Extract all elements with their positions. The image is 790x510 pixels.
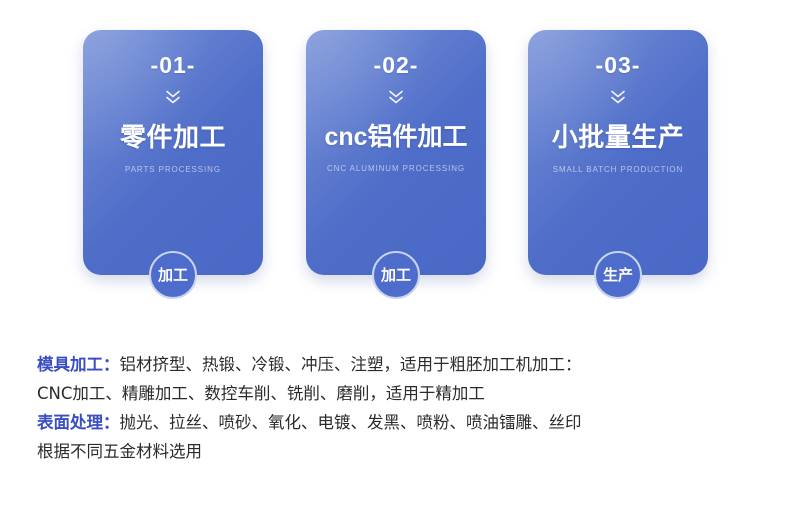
card-number: -01- (151, 54, 196, 77)
description-line: 根据不同五金材料选用 (37, 437, 757, 466)
description-line: CNC加工、精雕加工、数控车削、铣削、磨削，适用于精加工 (37, 379, 757, 408)
card-title: 零件加工 (120, 123, 226, 153)
card-number: -03- (596, 54, 641, 77)
double-chevron-down-icon (388, 89, 404, 107)
card-badge-label: 加工 (158, 268, 188, 283)
description-value: 铝材挤型、热锻、冷锻、冲压、注塑，适用于粗胚加工机加工： (120, 355, 582, 374)
card-content: -03- 小批量生产 SMALL BATCH PRODUCTION (528, 30, 708, 275)
card-subtitle: SMALL BATCH PRODUCTION (553, 165, 683, 174)
service-card-3[interactable]: -03- 小批量生产 SMALL BATCH PRODUCTION 生产 (528, 30, 708, 275)
card-number: -02- (374, 54, 419, 77)
service-card-2[interactable]: -02- cnc铝件加工 CNC ALUMINUM PROCESSING 加工 (306, 30, 486, 275)
card-content: -01- 零件加工 PARTS PROCESSING (83, 30, 263, 275)
card-subtitle: CNC ALUMINUM PROCESSING (327, 164, 465, 173)
card-title: 小批量生产 (552, 123, 685, 153)
description-key: 模具加工： (37, 355, 120, 374)
card-title: cnc铝件加工 (324, 123, 467, 152)
description-value: CNC加工、精雕加工、数控车削、铣削、磨削，适用于精加工 (37, 384, 485, 403)
card-badge[interactable]: 加工 (149, 251, 197, 299)
service-card-1[interactable]: -01- 零件加工 PARTS PROCESSING 加工 (83, 30, 263, 275)
description-block: 模具加工：铝材挤型、热锻、冷锻、冲压、注塑，适用于粗胚加工机加工： CNC加工、… (37, 350, 757, 466)
card-badge-label: 生产 (603, 268, 633, 283)
card-subtitle: PARTS PROCESSING (125, 165, 221, 174)
service-cards-row: -01- 零件加工 PARTS PROCESSING 加工 -02- (0, 0, 790, 310)
card-badge-label: 加工 (381, 268, 411, 283)
description-line: 表面处理：抛光、拉丝、喷砂、氧化、电镀、发黑、喷粉、喷油镭雕、丝印 (37, 408, 757, 437)
description-value: 根据不同五金材料选用 (37, 442, 202, 461)
card-content: -02- cnc铝件加工 CNC ALUMINUM PROCESSING (306, 30, 486, 275)
double-chevron-down-icon (610, 89, 626, 107)
card-badge[interactable]: 生产 (594, 251, 642, 299)
card-badge[interactable]: 加工 (372, 251, 420, 299)
description-value: 抛光、拉丝、喷砂、氧化、电镀、发黑、喷粉、喷油镭雕、丝印 (120, 413, 582, 432)
double-chevron-down-icon (165, 89, 181, 107)
description-line: 模具加工：铝材挤型、热锻、冷锻、冲压、注塑，适用于粗胚加工机加工： (37, 350, 757, 379)
description-key: 表面处理： (37, 413, 120, 432)
